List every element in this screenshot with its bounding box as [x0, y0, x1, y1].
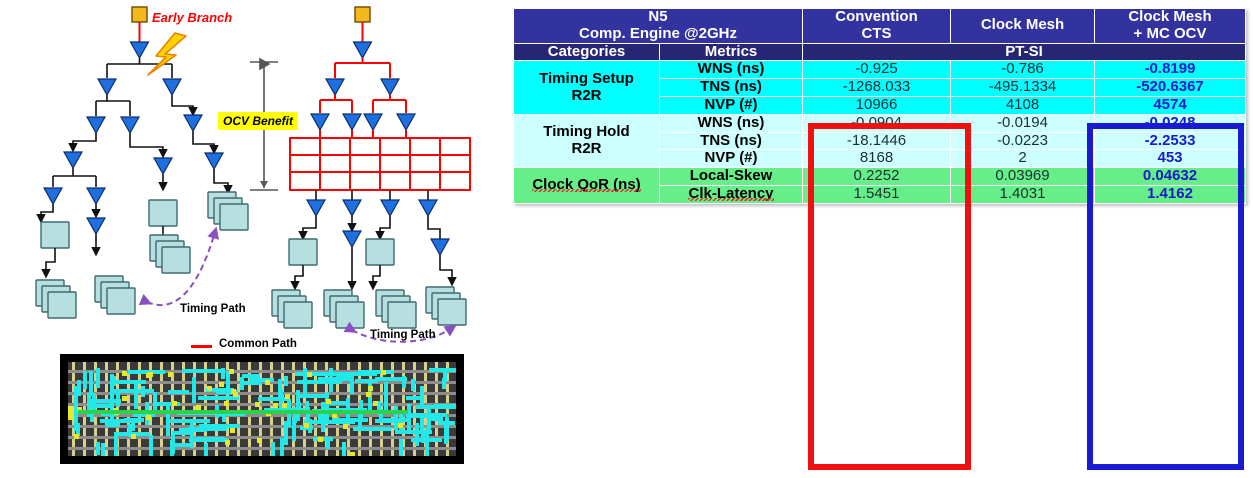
floorplan-clock-net	[188, 427, 227, 431]
slide-root: Early Branch OCV Benefit Timing Path Tim…	[0, 0, 1253, 478]
floorplan-clock-net	[221, 368, 225, 379]
col-header-conventional-line1: Convention	[803, 9, 950, 26]
clock-mesh-tree	[272, 7, 470, 342]
category-timing-setup-r2r: Timing Setup R2R	[514, 61, 660, 114]
floorplan-clock-net	[83, 371, 87, 389]
floorplan-clock-net	[134, 384, 138, 409]
value-conventional-cts: 0.2252	[803, 168, 951, 186]
subheader-metrics: Metrics	[660, 43, 803, 61]
floorplan-via	[122, 396, 127, 401]
metric-text: Clk-Latency	[688, 185, 773, 202]
category-line2: R2R	[514, 88, 659, 105]
floorplan-via	[373, 401, 378, 406]
floorplan-via	[307, 372, 312, 377]
floorplan-clock-net	[332, 418, 368, 422]
timing-path-label-right: Timing Path	[370, 329, 436, 341]
floorplan-critical-path	[78, 410, 408, 414]
col-header-clock-mesh: Clock Mesh	[951, 9, 1095, 44]
floorplan-clock-net	[409, 413, 447, 417]
floorplan-clock-net	[399, 439, 403, 456]
common-path-legend-swatch	[191, 345, 212, 348]
value-clock-mesh-mcocv: 4574	[1095, 96, 1246, 114]
floorplan-clock-net	[297, 394, 328, 398]
floorplan-row-track	[68, 436, 456, 439]
floorplan-clock-net	[375, 377, 407, 381]
floorplan-clock-net	[415, 423, 419, 446]
floorplan-clock-net	[249, 378, 274, 382]
timing-path-label-left: Timing Path	[180, 303, 246, 315]
qor-results-table-panel: N5 Comp. Engine @2GHz Convention CTS Clo…	[513, 8, 1245, 470]
table-title-cell: N5 Comp. Engine @2GHz	[514, 9, 803, 44]
subheader-categories: Categories	[514, 43, 660, 61]
floorplan-clock-net	[89, 371, 93, 396]
metric-label: Clk-Latency	[660, 185, 803, 203]
register-stack	[376, 290, 416, 328]
floorplan-clock-net	[87, 404, 110, 408]
floorplan-clock-net	[284, 421, 288, 445]
floorplan-row-track	[68, 447, 456, 450]
register-stack	[150, 235, 190, 273]
floorplan-via	[285, 394, 290, 399]
floorplan-via	[350, 452, 355, 456]
floorplan-via	[168, 372, 173, 377]
value-clock-mesh: -0.786	[951, 61, 1095, 79]
floorplan-clock-net	[420, 417, 424, 431]
value-clock-mesh: 4108	[951, 96, 1095, 114]
register-stack	[426, 287, 466, 325]
value-clock-mesh-mcocv: -520.6367	[1095, 79, 1246, 97]
floorplan-clock-net	[350, 374, 354, 394]
floorplan-clock-net	[358, 370, 394, 374]
floorplan-clock-net	[442, 378, 446, 389]
col-header-mcocv-line1: Clock Mesh	[1095, 9, 1245, 26]
floorplan-via	[131, 434, 136, 439]
category-line1: Timing Hold	[514, 124, 659, 141]
floorplan-clock-net	[101, 443, 105, 456]
floorplan-clock-net	[192, 377, 196, 403]
floorplan-clock-net	[106, 423, 120, 427]
value-clock-mesh: -495.1334	[951, 79, 1095, 97]
floorplan-clock-net	[240, 377, 244, 390]
col-header-mcocv-line2: + MC OCV	[1095, 26, 1245, 43]
value-clock-mesh: -0.0223	[951, 132, 1095, 150]
floorplan-via	[122, 371, 127, 376]
floorplan-via	[146, 415, 151, 420]
value-conventional-cts: 10966	[803, 96, 951, 114]
floorplan-clock-net	[204, 443, 208, 456]
floorplan-clock-net	[170, 440, 174, 456]
ocv-benefit-label: OCV Benefit	[218, 112, 298, 130]
table-row: Timing Setup R2R WNS (ns) -0.925 -0.786 …	[514, 61, 1246, 79]
early-branch-label: Early Branch	[152, 10, 232, 25]
floorplan-clock-net	[87, 399, 121, 403]
floorplan-clock-net	[342, 442, 346, 456]
floorplan-power-rail	[138, 362, 141, 456]
floorplan-clock-net	[326, 439, 330, 449]
floorplan-via	[398, 423, 403, 428]
floorplan-clock-net	[182, 369, 225, 373]
clock-tree-mesh-svg	[0, 0, 510, 360]
floorplan-clock-net	[444, 425, 448, 444]
floorplan-clock-net	[174, 443, 192, 447]
floorplan-canvas	[68, 362, 456, 456]
floorplan-clock-net	[297, 380, 342, 384]
metric-label: Local-Skew	[660, 168, 803, 186]
col-header-conventional-line2: CTS	[803, 26, 950, 43]
metric-label: WNS (ns)	[660, 61, 803, 79]
value-conventional-cts: 8168	[803, 150, 951, 168]
floorplan-clock-net	[166, 419, 210, 423]
floorplan-clock-net	[149, 435, 153, 456]
floorplan-via	[265, 380, 270, 385]
floorplan-clock-net	[96, 442, 100, 455]
value-clock-mesh-mcocv: -2.2533	[1095, 132, 1246, 150]
clock-architecture-diagram-panel: Early Branch OCV Benefit Timing Path Tim…	[0, 0, 510, 478]
value-clock-mesh: 0.03969	[951, 168, 1095, 186]
register-stack	[208, 192, 248, 230]
value-clock-mesh-mcocv: -0.8199	[1095, 61, 1246, 79]
floorplan-via	[381, 370, 386, 375]
col-header-clock-mesh-mcocv: Clock Mesh + MC OCV	[1095, 9, 1246, 44]
table-row: Timing Hold R2R WNS (ns) -0.0904 -0.0194…	[514, 114, 1246, 132]
floorplan-clock-net	[411, 379, 415, 391]
category-line1: Clock QoR (ns)	[532, 176, 640, 193]
floorplan-via	[207, 386, 212, 391]
floorplan-clock-net	[74, 386, 78, 404]
floorplan-clock-net	[406, 396, 424, 400]
value-clock-mesh: 2	[951, 150, 1095, 168]
floorplan-power-rail	[127, 362, 130, 456]
value-conventional-cts: -18.1446	[803, 132, 951, 150]
value-conventional-cts: -0.925	[803, 61, 951, 79]
floorplan-clock-net	[353, 427, 391, 431]
category-line2: R2R	[514, 141, 659, 158]
metric-label: WNS (ns)	[660, 114, 803, 132]
common-path-legend-label: Common Path	[219, 338, 297, 350]
floorplan-pin	[68, 406, 74, 420]
metric-label: TNS (ns)	[660, 132, 803, 150]
table-row: Clock QoR (ns) Local-Skew 0.2252 0.03969…	[514, 168, 1246, 186]
floorplan-clock-net	[321, 402, 325, 432]
floorplan-via	[318, 437, 323, 442]
category-timing-hold-r2r: Timing Hold R2R	[514, 114, 660, 167]
floorplan-via	[229, 369, 234, 374]
table-subheader-row: Categories Metrics PT-SI	[514, 43, 1246, 61]
floorplan-via	[273, 403, 278, 408]
floorplan-clock-net	[429, 368, 456, 372]
mesh-grid	[290, 138, 470, 190]
floorplan-via	[74, 434, 79, 439]
register-stack	[324, 290, 364, 328]
floorplan-via	[257, 438, 262, 443]
floorplan-clock-net	[226, 371, 230, 395]
floorplan-clock-net	[189, 438, 228, 442]
table-header-row: N5 Comp. Engine @2GHz Convention CTS Clo…	[514, 9, 1246, 44]
floorplan-clock-net	[313, 437, 333, 441]
value-clock-mesh: 1.4031	[951, 185, 1095, 203]
table-title-line1: N5	[514, 9, 802, 26]
qor-results-table: N5 Comp. Engine @2GHz Convention CTS Clo…	[513, 8, 1246, 204]
floorplan-via	[304, 423, 309, 428]
metric-text: Local-Skew	[690, 167, 773, 184]
value-clock-mesh-mcocv: 453	[1095, 150, 1246, 168]
value-clock-mesh-mcocv: 0.04632	[1095, 168, 1246, 186]
value-conventional-cts: -0.0904	[803, 114, 951, 132]
floorplan-power-rail	[182, 362, 185, 456]
floorplan-via	[368, 386, 373, 391]
floorplan-via	[366, 392, 371, 397]
value-conventional-cts: 1.5451	[803, 185, 951, 203]
col-header-conventional-cts: Convention CTS	[803, 9, 951, 44]
floorplan-clock-net	[168, 390, 189, 394]
floorplan-clock-net	[329, 368, 333, 392]
value-clock-mesh-mcocv: -0.0248	[1095, 114, 1246, 132]
floorplan-via	[343, 424, 348, 429]
floorplan-clock-net	[325, 392, 329, 423]
floorplan-clock-net	[284, 376, 288, 386]
floorplan-clock-net	[384, 382, 388, 412]
chip-floorplan-image	[60, 354, 464, 464]
register-stack	[36, 280, 76, 318]
floorplan-power-rail	[105, 362, 108, 456]
table-title-line2: Comp. Engine @2GHz	[514, 26, 802, 43]
register-stack	[95, 276, 135, 314]
floorplan-via	[225, 440, 230, 445]
floorplan-clock-net	[375, 419, 399, 423]
floorplan-via	[255, 402, 260, 407]
metric-label: NVP (#)	[660, 150, 803, 168]
floorplan-via	[219, 382, 224, 387]
floorplan-clock-net	[271, 442, 275, 456]
subheader-tool-ptsi: PT-SI	[803, 43, 1246, 61]
floorplan-clock-net	[407, 404, 411, 432]
floorplan-via	[282, 403, 287, 408]
floorplan-clock-net	[116, 380, 146, 384]
floorplan-via	[172, 401, 177, 406]
metric-label: TNS (ns)	[660, 79, 803, 97]
floorplan-clock-net	[292, 419, 296, 441]
register-stack	[272, 290, 312, 328]
floorplan-power-rail	[160, 362, 163, 456]
floorplan-clock-net	[114, 432, 118, 456]
floorplan-via	[231, 389, 236, 394]
category-clock-qor: Clock QoR (ns)	[514, 168, 660, 204]
floorplan-via	[326, 399, 331, 404]
floorplan-via	[224, 401, 229, 406]
floorplan-via	[230, 428, 235, 433]
value-clock-mesh: -0.0194	[951, 114, 1095, 132]
lightning-bolt-icon	[148, 33, 186, 75]
floorplan-clock-net	[434, 404, 456, 408]
floorplan-via	[148, 372, 153, 377]
conventional-cts-tree	[36, 7, 248, 318]
floorplan-clock-net	[278, 379, 282, 397]
value-clock-mesh-mcocv: 1.4162	[1095, 185, 1246, 203]
floorplan-clock-net	[172, 431, 194, 435]
value-conventional-cts: -1268.033	[803, 79, 951, 97]
category-line1: Timing Setup	[514, 71, 659, 88]
floorplan-clock-net	[96, 368, 100, 388]
metric-label: NVP (#)	[660, 96, 803, 114]
